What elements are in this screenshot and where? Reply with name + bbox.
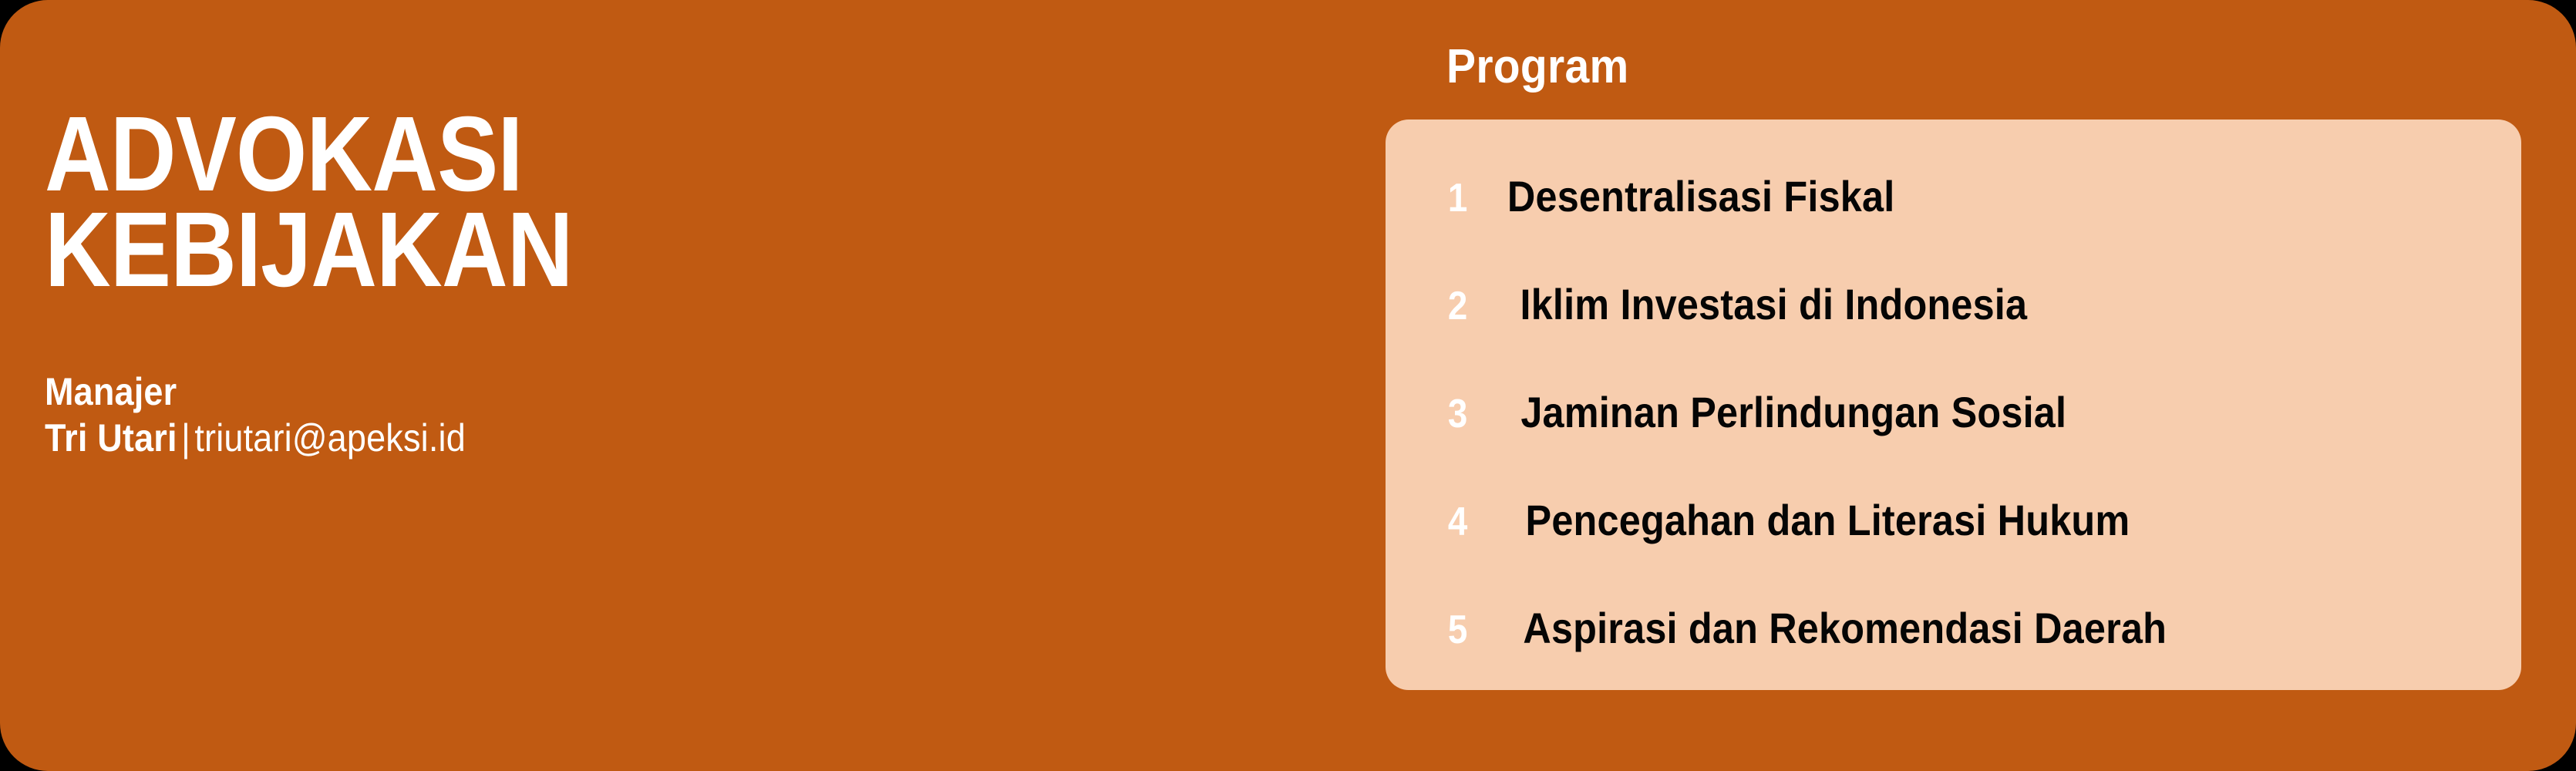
program-item-label: Desentralisasi Fiskal — [1507, 175, 1894, 218]
program-item-label: Pencegahan dan Literasi Hukum — [1526, 499, 2130, 542]
page-title-line-1: ADVOKASI — [45, 106, 1172, 202]
program-list-item[interactable]: 1Desentralisasi Fiskal — [1446, 175, 1916, 218]
program-item-number: 5 — [1448, 610, 1480, 650]
contact-separator: | — [177, 416, 195, 460]
program-item-label: Aspirasi dan Rekomendasi Daerah — [1523, 607, 2167, 650]
title-block: ADVOKASI KEBIJAKAN Manajer Tri Utari|tri… — [45, 35, 1355, 460]
role-label: Manajer — [45, 369, 1224, 414]
page-title-line-2: KEBIJAKAN — [45, 202, 1172, 298]
program-item-label: Jaminan Perlindungan Sosial — [1520, 391, 2066, 434]
page-title: ADVOKASI KEBIJAKAN — [45, 106, 1172, 298]
slide-canvas: ADVOKASI KEBIJAKAN Manajer Tri Utari|tri… — [0, 0, 2576, 771]
program-section-label: Program — [1446, 42, 1629, 93]
contact-email[interactable]: triutari@apeksi.id — [194, 416, 466, 460]
program-item-label: Iklim Investasi di Indonesia — [1520, 283, 2028, 326]
contact-name: Tri Utari — [45, 416, 177, 460]
program-list-item[interactable]: 5Aspirasi dan Rekomendasi Daerah — [1446, 607, 2202, 650]
contact-line: Tri Utari|triutari@apeksi.id — [45, 416, 1224, 460]
program-list-item[interactable]: 2Iklim Investasi di Indonesia — [1446, 283, 2056, 326]
program-list: 1Desentralisasi Fiskal2Iklim Investasi d… — [1386, 120, 2521, 690]
program-list-item[interactable]: 4Pencegahan dan Literasi Hukum — [1446, 499, 2164, 542]
program-item-number: 3 — [1448, 394, 1480, 434]
program-item-number: 4 — [1448, 502, 1480, 542]
program-item-number: 2 — [1448, 286, 1480, 326]
program-panel: 1Desentralisasi Fiskal2Iklim Investasi d… — [1386, 120, 2521, 690]
program-item-number: 1 — [1448, 178, 1480, 218]
program-list-item[interactable]: 3Jaminan Perlindungan Sosial — [1446, 391, 2096, 434]
